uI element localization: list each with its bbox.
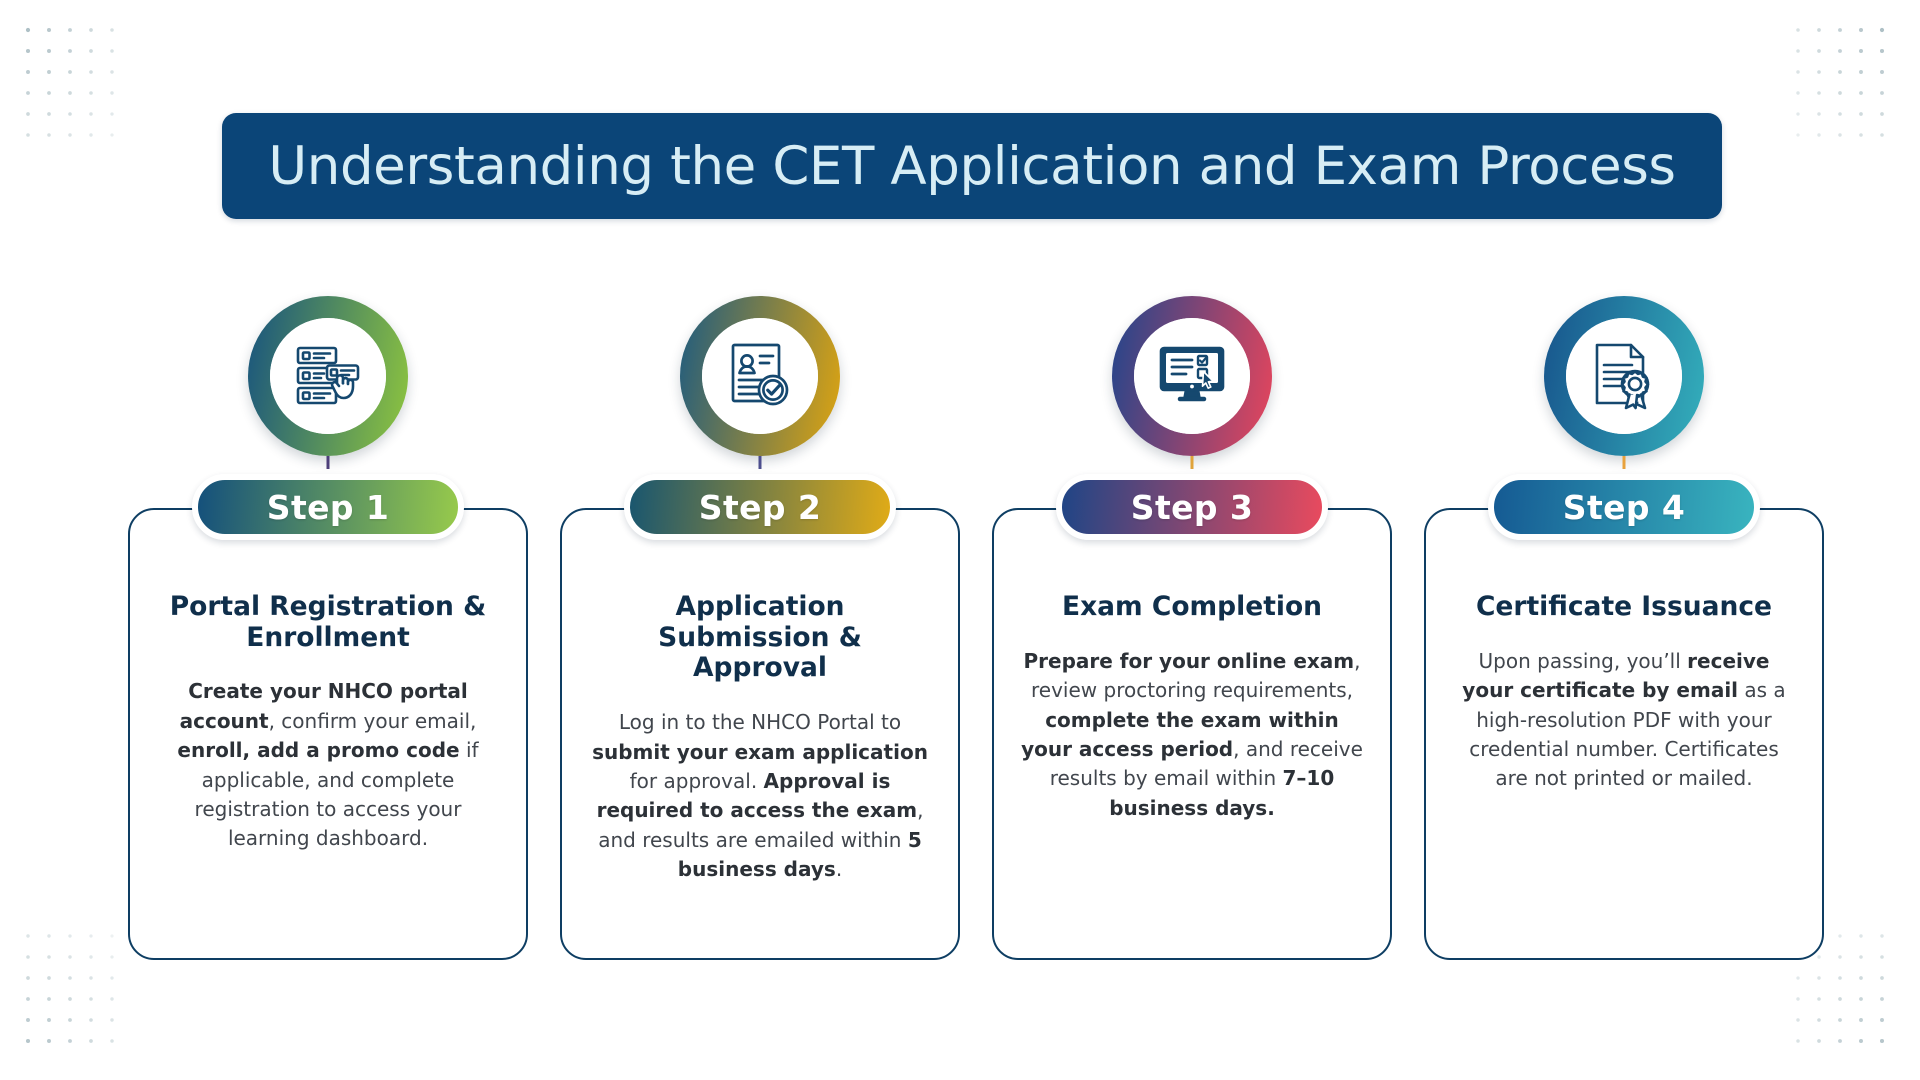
step-column-2: Step 2Application Submission & ApprovalL… <box>560 296 960 996</box>
step-medallion-2[interactable] <box>680 296 840 456</box>
step-pill-2[interactable]: Step 2 <box>624 474 896 540</box>
steps-container: Step 1Portal Registration & EnrollmentCr… <box>0 296 1920 996</box>
decorative-dots-top-left <box>20 22 130 152</box>
step-card-body-4: Certificate IssuanceUpon passing, you’ll… <box>1426 592 1822 794</box>
decorative-dots-top-right <box>1790 22 1900 152</box>
step-card-2: Step 2Application Submission & ApprovalL… <box>560 508 960 960</box>
infographic-stage: Understanding the CET Application and Ex… <box>0 0 1920 1080</box>
title-banner: Understanding the CET Application and Ex… <box>222 113 1722 219</box>
step-card-body-3: Exam CompletionPrepare for your online e… <box>994 592 1390 823</box>
step-card-title: Exam Completion <box>1020 592 1364 623</box>
step-card-3: Step 3Exam CompletionPrepare for your on… <box>992 508 1392 960</box>
step-card-title: Portal Registration & Enrollment <box>156 592 500 653</box>
step-card-description: Upon passing, you’ll receive your certif… <box>1452 647 1796 794</box>
step-pill-label: Step 3 <box>1131 488 1253 527</box>
step-card-1: Step 1Portal Registration & EnrollmentCr… <box>128 508 528 960</box>
step-medallion-4[interactable] <box>1544 296 1704 456</box>
form-list-click-icon <box>270 318 386 434</box>
certificate-award-icon <box>1566 318 1682 434</box>
step-pill-label: Step 4 <box>1563 488 1685 527</box>
step-pill-3[interactable]: Step 3 <box>1056 474 1328 540</box>
application-form-approved-icon <box>702 318 818 434</box>
step-card-description: Prepare for your online exam, review pro… <box>1020 647 1364 823</box>
online-exam-monitor-icon <box>1134 318 1250 434</box>
step-column-1: Step 1Portal Registration & EnrollmentCr… <box>128 296 528 996</box>
step-pill-1[interactable]: Step 1 <box>192 474 464 540</box>
step-column-3: Step 3Exam CompletionPrepare for your on… <box>992 296 1392 996</box>
step-pill-4[interactable]: Step 4 <box>1488 474 1760 540</box>
step-column-4: Step 4Certificate IssuanceUpon passing, … <box>1424 296 1824 996</box>
step-medallion-1[interactable] <box>248 296 408 456</box>
step-card-body-1: Portal Registration & EnrollmentCreate y… <box>130 592 526 854</box>
step-card-description: Log in to the NHCO Portal to submit your… <box>588 708 932 884</box>
step-medallion-3[interactable] <box>1112 296 1272 456</box>
step-card-description: Create your NHCO portal account, confirm… <box>156 677 500 853</box>
step-card-body-2: Application Submission & ApprovalLog in … <box>562 592 958 885</box>
step-pill-label: Step 1 <box>267 488 389 527</box>
step-pill-label: Step 2 <box>699 488 821 527</box>
step-card-4: Step 4Certificate IssuanceUpon passing, … <box>1424 508 1824 960</box>
step-card-title: Application Submission & Approval <box>588 592 932 684</box>
step-card-title: Certificate Issuance <box>1452 592 1796 623</box>
page-title: Understanding the CET Application and Ex… <box>268 136 1675 197</box>
